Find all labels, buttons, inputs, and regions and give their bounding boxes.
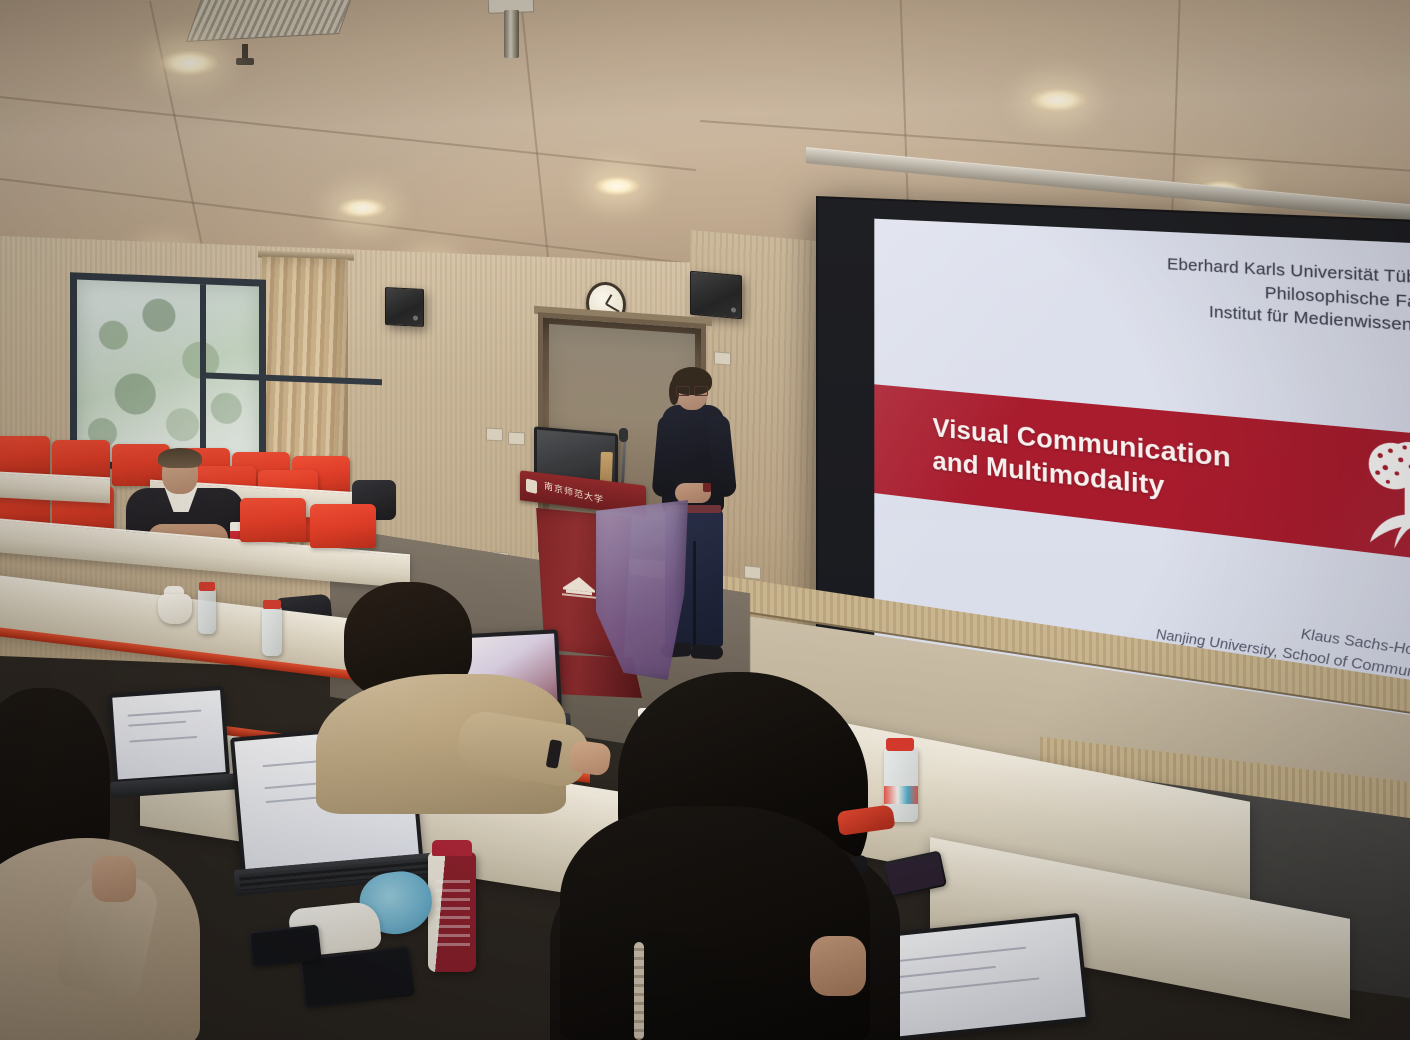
ceiling-light	[338, 198, 386, 218]
pearl-necklace	[634, 942, 644, 1040]
ceiling-sensor-icon	[236, 44, 254, 66]
slide-title-band: Visual Communication and Multimodality	[874, 384, 1410, 566]
teapot	[158, 594, 192, 624]
auditorium-seat[interactable]	[240, 498, 306, 542]
wall-socket	[714, 351, 731, 365]
water-bottle	[198, 588, 216, 634]
slide-title: Visual Communication and Multimodality	[874, 407, 1231, 512]
tuebingen-tree-logo	[1362, 433, 1410, 560]
glasses-icon	[676, 386, 708, 394]
auditorium-seat[interactable]	[310, 504, 376, 548]
wall-speaker-left	[385, 287, 424, 327]
microphone-icon	[619, 428, 628, 442]
bottle-label	[436, 880, 470, 950]
wall-speaker-right	[690, 271, 742, 320]
ceiling-light	[594, 176, 640, 196]
attendee-hand	[92, 856, 136, 902]
ceiling-light	[160, 50, 218, 76]
attendee-neck	[810, 936, 866, 996]
attendee-beige-sweater-left	[0, 688, 220, 1040]
projector-mount	[488, 0, 534, 64]
wall-socket	[508, 432, 525, 446]
podium-institution-label: 南京师范大学	[544, 479, 604, 507]
wall-socket	[486, 428, 503, 442]
ceiling-light	[1030, 88, 1086, 112]
smartphone[interactable]	[248, 924, 321, 967]
wall-socket	[744, 565, 761, 580]
attendee-foreground-right	[560, 806, 900, 1040]
water-bottle	[262, 606, 282, 656]
attendee-tan-coat	[326, 582, 596, 812]
lecture-hall-photo: Eberhard Karls Universität Tübingen Phil…	[0, 0, 1410, 1040]
slide-header: Eberhard Karls Universität Tübingen Phil…	[1167, 254, 1410, 342]
air-conditioning-vent	[186, 0, 356, 42]
